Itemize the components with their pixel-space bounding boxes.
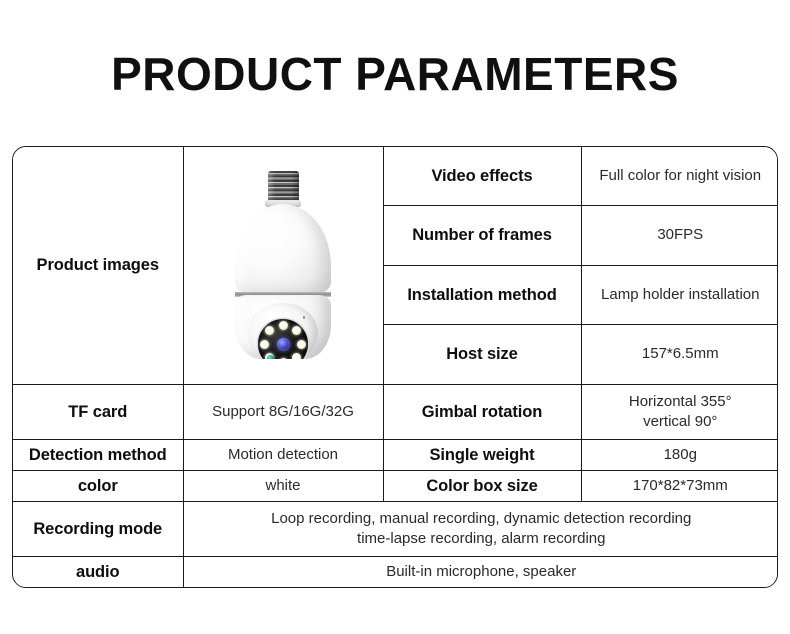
product-image-cell: [183, 147, 383, 384]
row-label-color-box-size: Color box size: [383, 470, 581, 501]
row-label-video-effects: Video effects: [383, 147, 581, 205]
gimbal-rotation-line1: Horizontal 355°: [588, 392, 774, 412]
led-icon: [292, 353, 301, 360]
camera-lens-face-icon: [258, 319, 308, 359]
row-value-detection-method: Motion detection: [183, 440, 383, 471]
row-value-color-box-size: 170*82*73mm: [581, 470, 778, 501]
bulb-screw-base-icon: [268, 171, 299, 201]
row-label-detection-method: Detection method: [13, 440, 183, 471]
row-label-color: color: [13, 470, 183, 501]
camera-swivel-ball-icon: [248, 303, 318, 359]
row-value-tf-card: Support 8G/16G/32G: [183, 384, 383, 439]
led-icon: [292, 326, 301, 335]
microphone-hole-icon: [303, 316, 306, 319]
row-value-gimbal-rotation: Horizontal 355° vertical 90°: [581, 384, 778, 439]
row-value-video-effects: Full color for night vision: [581, 147, 778, 205]
row-value-audio: Built-in microphone, speaker: [183, 557, 778, 587]
row-label-gimbal-rotation: Gimbal rotation: [383, 384, 581, 439]
camera-housing-icon: [235, 295, 331, 359]
table-row: audio Built-in microphone, speaker: [13, 557, 778, 587]
led-icon: [279, 321, 288, 330]
row-label-product-images: Product images: [13, 147, 183, 384]
row-value-color: white: [183, 470, 383, 501]
led-icon: [260, 340, 269, 349]
row-value-installation-method: Lamp holder installation: [581, 265, 778, 325]
row-label-single-weight: Single weight: [383, 440, 581, 471]
table-row: Product images: [13, 147, 778, 205]
recording-mode-line2: time-lapse recording, alarm recording: [190, 529, 774, 549]
led-icon: [279, 358, 288, 360]
page-title: PRODUCT PARAMETERS: [0, 50, 790, 98]
ir-sensor-icon: [267, 355, 274, 359]
row-label-audio: audio: [13, 557, 183, 587]
led-icon: [297, 340, 306, 349]
product-parameters-table: Product images: [12, 146, 778, 588]
table-row: Detection method Motion detection Single…: [13, 440, 778, 471]
row-value-single-weight: 180g: [581, 440, 778, 471]
recording-mode-line1: Loop recording, manual recording, dynami…: [190, 509, 774, 529]
spec-table: Product images: [13, 147, 778, 587]
led-icon: [265, 326, 274, 335]
row-label-host-size: Host size: [383, 325, 581, 385]
row-label-recording-mode: Recording mode: [13, 501, 183, 556]
table-row: Recording mode Loop recording, manual re…: [13, 501, 778, 556]
row-label-installation-method: Installation method: [383, 265, 581, 325]
row-value-number-of-frames: 30FPS: [581, 205, 778, 265]
row-label-tf-card: TF card: [13, 384, 183, 439]
table-row: TF card Support 8G/16G/32G Gimbal rotati…: [13, 384, 778, 439]
table-row: color white Color box size 170*82*73mm: [13, 470, 778, 501]
bulb-body-icon: [235, 204, 331, 296]
camera-lens-icon: [277, 338, 290, 351]
row-label-number-of-frames: Number of frames: [383, 205, 581, 265]
bulb-camera-icon: [223, 171, 343, 359]
gimbal-rotation-line2: vertical 90°: [588, 412, 774, 432]
row-value-host-size: 157*6.5mm: [581, 325, 778, 385]
row-value-recording-mode: Loop recording, manual recording, dynami…: [183, 501, 778, 556]
